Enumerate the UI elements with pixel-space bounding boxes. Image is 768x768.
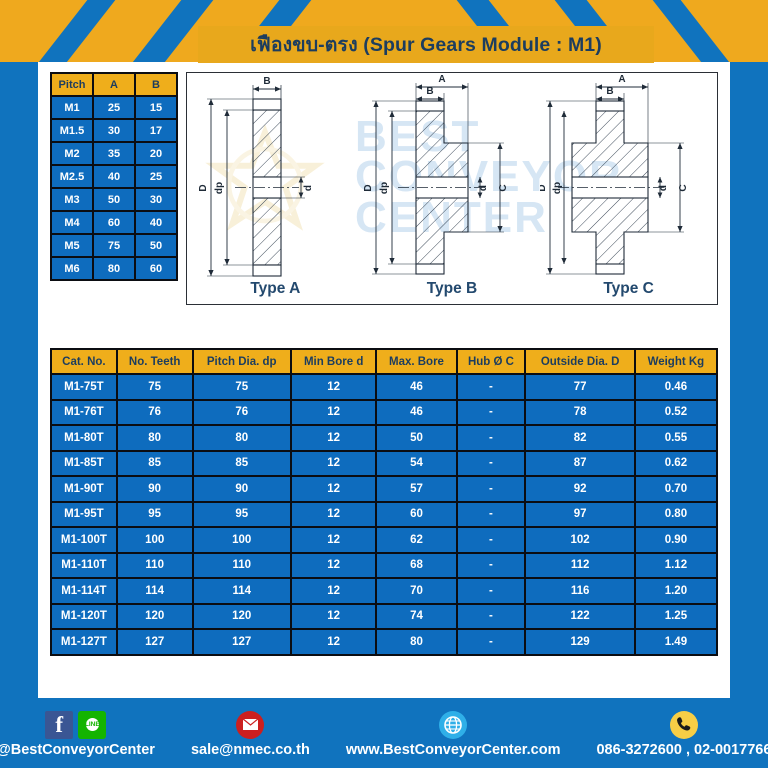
spec-header-weight: Weight Kg (636, 350, 716, 373)
footer-item-phone[interactable]: 086-3272600 , 02-0017766 (588, 709, 768, 758)
line-icon[interactable]: LINE (78, 711, 106, 739)
cell-b: 50 (136, 235, 176, 256)
footer-website-text: www.BestConveyorCenter.com (346, 742, 561, 758)
cell-cat-no: M1-90T (52, 477, 116, 501)
cell-no-teeth: 76 (118, 401, 192, 425)
cell-weight: 0.80 (636, 503, 716, 527)
cell-min-bore: 12 (292, 426, 376, 450)
cell-weight: 0.52 (636, 401, 716, 425)
cell-no-teeth: 110 (118, 554, 192, 578)
cell-weight: 1.20 (636, 579, 716, 603)
cell-pitch: M1 (52, 97, 92, 118)
cell-hub-dia: - (458, 605, 525, 629)
table-row: M1-90T90901257-920.70 (52, 477, 716, 501)
table-row: M1-110T1101101268-1121.12 (52, 554, 716, 578)
svg-text:D: D (540, 184, 548, 191)
spec-header-no-teeth: No. Teeth (118, 350, 192, 373)
cell-max-bore: 68 (377, 554, 455, 578)
cell-cat-no: M1-80T (52, 426, 116, 450)
top-section: Pitch A B M12515 M1.53017 M23520 M2.5402… (50, 72, 718, 304)
cell-a: 80 (94, 258, 134, 279)
cell-no-teeth: 100 (118, 528, 192, 552)
cell-outside-dia: 102 (526, 528, 633, 552)
cell-a: 30 (94, 120, 134, 141)
cell-cat-no: M1-75T (52, 375, 116, 399)
footer-contact-bar: f LINE @BestConveyorCenter sale@nmec.co.… (0, 698, 768, 768)
cell-cat-no: M1-95T (52, 503, 116, 527)
cell-b: 17 (136, 120, 176, 141)
pitch-header-pitch: Pitch (52, 74, 92, 95)
cell-outside-dia: 92 (526, 477, 633, 501)
cell-no-teeth: 120 (118, 605, 192, 629)
cell-hub-dia: - (458, 554, 525, 578)
spec-header-max-bore: Max. Bore (377, 350, 455, 373)
cell-max-bore: 74 (377, 605, 455, 629)
diagram-type-b: A B D dp (364, 73, 541, 304)
cell-hub-dia: - (458, 426, 525, 450)
cell-outside-dia: 78 (526, 401, 633, 425)
spec-header-cat-no: Cat. No. (52, 350, 116, 373)
cell-b: 40 (136, 212, 176, 233)
cell-hub-dia: - (458, 452, 525, 476)
footer-phone-text: 086-3272600 , 02-0017766 (596, 742, 768, 758)
svg-text:d: d (478, 185, 489, 191)
facebook-icon[interactable]: f (45, 711, 73, 739)
spec-header-min-bore: Min Bore d (292, 350, 376, 373)
phone-icon[interactable] (670, 711, 698, 739)
footer-item-website[interactable]: www.BestConveyorCenter.com (338, 709, 569, 758)
cell-cat-no: M1-114T (52, 579, 116, 603)
cell-outside-dia: 82 (526, 426, 633, 450)
spec-table-wrapper: Cat. No. No. Teeth Pitch Dia. dp Min Bor… (50, 348, 718, 656)
pitch-header-a: A (94, 74, 134, 95)
table-row: M1-85T85851254-870.62 (52, 452, 716, 476)
cell-pitch: M6 (52, 258, 92, 279)
cell-a: 40 (94, 166, 134, 187)
cell-b: 15 (136, 97, 176, 118)
cell-max-bore: 60 (377, 503, 455, 527)
cell-pitch-dia: 80 (194, 426, 290, 450)
cell-pitch-dia: 75 (194, 375, 290, 399)
pitch-header-b: B (136, 74, 176, 95)
cell-min-bore: 12 (292, 375, 376, 399)
cell-outside-dia: 129 (526, 630, 633, 654)
diagram-type-a: B D dp (187, 73, 364, 304)
svg-text:D: D (364, 184, 374, 191)
cell-outside-dia: 77 (526, 375, 633, 399)
spec-table: Cat. No. No. Teeth Pitch Dia. dp Min Bor… (50, 348, 718, 656)
cell-no-teeth: 127 (118, 630, 192, 654)
cell-pitch: M2.5 (52, 166, 92, 187)
type-b-label: Type B (364, 280, 541, 298)
cell-weight: 1.49 (636, 630, 716, 654)
svg-text:d: d (303, 185, 314, 191)
cell-a: 25 (94, 97, 134, 118)
cell-b: 25 (136, 166, 176, 187)
cell-no-teeth: 75 (118, 375, 192, 399)
cell-min-bore: 12 (292, 605, 376, 629)
cell-a: 75 (94, 235, 134, 256)
cell-min-bore: 12 (292, 503, 376, 527)
table-row: M1-114T1141141270-1161.20 (52, 579, 716, 603)
cell-weight: 0.70 (636, 477, 716, 501)
footer-social-text: @BestConveyorCenter (0, 742, 155, 758)
cell-weight: 1.12 (636, 554, 716, 578)
svg-text:B: B (607, 86, 614, 97)
cell-hub-dia: - (458, 630, 525, 654)
cell-min-bore: 12 (292, 528, 376, 552)
email-icon[interactable] (236, 711, 264, 739)
cell-cat-no: M1-127T (52, 630, 116, 654)
table-row: M1-120T1201201274-1221.25 (52, 605, 716, 629)
cell-cat-no: M1-110T (52, 554, 116, 578)
cell-max-bore: 62 (377, 528, 455, 552)
table-row: M1-127T1271271280-1291.49 (52, 630, 716, 654)
page-title: เฟืองขบ-ตรง (Spur Gears Module : M1) (198, 26, 654, 63)
cell-b: 60 (136, 258, 176, 279)
svg-text:A: A (619, 75, 626, 85)
spec-header-outside-dia: Outside Dia. D (526, 350, 633, 373)
table-row: M1-80T80801250-820.55 (52, 426, 716, 450)
cell-cat-no: M1-76T (52, 401, 116, 425)
cell-min-bore: 12 (292, 554, 376, 578)
cell-hub-dia: - (458, 528, 525, 552)
table-row: M2.54025 (52, 166, 176, 187)
footer-item-social[interactable]: f LINE @BestConveyorCenter (0, 709, 163, 758)
cell-pitch-dia: 85 (194, 452, 290, 476)
type-a-label: Type A (187, 280, 364, 298)
cell-min-bore: 12 (292, 579, 376, 603)
cell-max-bore: 70 (377, 579, 455, 603)
svg-text:B: B (426, 86, 433, 97)
table-row: M1-75T75751246-770.46 (52, 375, 716, 399)
pitch-table: Pitch A B M12515 M1.53017 M23520 M2.5402… (50, 72, 178, 281)
cell-max-bore: 57 (377, 477, 455, 501)
svg-text:B: B (263, 76, 270, 87)
table-row: M1-76T76761246-780.52 (52, 401, 716, 425)
spec-header-hub-dia: Hub Ø C (458, 350, 525, 373)
cell-outside-dia: 87 (526, 452, 633, 476)
cell-cat-no: M1-100T (52, 528, 116, 552)
cell-pitch-dia: 76 (194, 401, 290, 425)
cell-hub-dia: - (458, 401, 525, 425)
envelope-glyph (242, 718, 259, 731)
cell-pitch-dia: 100 (194, 528, 290, 552)
table-row: M1-100T1001001262-1020.90 (52, 528, 716, 552)
table-row: M12515 (52, 97, 176, 118)
svg-text:dp: dp (552, 182, 563, 194)
spec-table-header-row: Cat. No. No. Teeth Pitch Dia. dp Min Bor… (52, 350, 716, 373)
table-row: M1-95T95951260-970.80 (52, 503, 716, 527)
cell-a: 60 (94, 212, 134, 233)
cell-max-bore: 80 (377, 630, 455, 654)
globe-icon[interactable] (439, 711, 467, 739)
cell-b: 20 (136, 143, 176, 164)
cell-pitch: M2 (52, 143, 92, 164)
cell-cat-no: M1-85T (52, 452, 116, 476)
cell-min-bore: 12 (292, 401, 376, 425)
cell-no-teeth: 80 (118, 426, 192, 450)
cell-outside-dia: 116 (526, 579, 633, 603)
cell-max-bore: 46 (377, 401, 455, 425)
svg-text:d: d (658, 185, 669, 191)
cell-b: 30 (136, 189, 176, 210)
svg-text:C: C (498, 184, 509, 191)
svg-text:C: C (678, 184, 689, 191)
spec-table-body: M1-75T75751246-770.46 M1-76T76761246-780… (52, 375, 716, 654)
table-row: M46040 (52, 212, 176, 233)
cell-min-bore: 12 (292, 452, 376, 476)
table-row: M35030 (52, 189, 176, 210)
pitch-table-header-row: Pitch A B (52, 74, 176, 95)
cell-hub-dia: - (458, 503, 525, 527)
diagram-panel: BEST CONVEYOR CENTER (186, 72, 718, 305)
cell-no-teeth: 85 (118, 452, 192, 476)
page-title-text: เฟืองขบ-ตรง (Spur Gears Module : M1) (250, 29, 602, 60)
cell-a: 50 (94, 189, 134, 210)
footer-email-text: sale@nmec.co.th (191, 742, 310, 758)
cell-max-bore: 46 (377, 375, 455, 399)
phone-glyph (675, 716, 692, 733)
cell-pitch-dia: 127 (194, 630, 290, 654)
cell-pitch-dia: 90 (194, 477, 290, 501)
type-c-drawing: A B D dp (540, 75, 718, 285)
svg-text:D: D (198, 184, 209, 191)
cell-outside-dia: 97 (526, 503, 633, 527)
globe-glyph (443, 715, 463, 735)
line-badge-text: LINE (86, 718, 99, 731)
cell-weight: 0.55 (636, 426, 716, 450)
cell-no-teeth: 90 (118, 477, 192, 501)
table-row: M68060 (52, 258, 176, 279)
type-a-drawing: B D dp (187, 75, 365, 285)
cell-pitch-dia: 120 (194, 605, 290, 629)
cell-min-bore: 12 (292, 630, 376, 654)
table-row: M1.53017 (52, 120, 176, 141)
cell-no-teeth: 95 (118, 503, 192, 527)
content-card: เฟืองขบ-ตรง (Spur Gears Module : M1) Pit… (38, 62, 730, 698)
cell-max-bore: 54 (377, 452, 455, 476)
cell-min-bore: 12 (292, 477, 376, 501)
cell-hub-dia: - (458, 375, 525, 399)
svg-text:dp: dp (214, 182, 225, 194)
cell-pitch-dia: 95 (194, 503, 290, 527)
cell-a: 35 (94, 143, 134, 164)
cell-pitch: M3 (52, 189, 92, 210)
cell-weight: 0.62 (636, 452, 716, 476)
cell-outside-dia: 112 (526, 554, 633, 578)
cell-pitch-dia: 114 (194, 579, 290, 603)
cell-hub-dia: - (458, 579, 525, 603)
cell-pitch: M5 (52, 235, 92, 256)
type-b-drawing: A B D dp (364, 75, 542, 285)
diagram-type-c: A B D dp (540, 73, 717, 304)
cell-outside-dia: 122 (526, 605, 633, 629)
cell-weight: 1.25 (636, 605, 716, 629)
table-row: M23520 (52, 143, 176, 164)
cell-cat-no: M1-120T (52, 605, 116, 629)
svg-text:A: A (438, 75, 445, 85)
cell-pitch: M1.5 (52, 120, 92, 141)
cell-weight: 0.90 (636, 528, 716, 552)
cell-max-bore: 50 (377, 426, 455, 450)
table-row: M57550 (52, 235, 176, 256)
cell-no-teeth: 114 (118, 579, 192, 603)
cell-hub-dia: - (458, 477, 525, 501)
cell-pitch: M4 (52, 212, 92, 233)
svg-text:dp: dp (379, 182, 390, 194)
type-c-label: Type C (540, 280, 717, 298)
footer-item-email[interactable]: sale@nmec.co.th (183, 709, 318, 758)
spec-header-pitch-dia: Pitch Dia. dp (194, 350, 290, 373)
cell-weight: 0.46 (636, 375, 716, 399)
cell-pitch-dia: 110 (194, 554, 290, 578)
